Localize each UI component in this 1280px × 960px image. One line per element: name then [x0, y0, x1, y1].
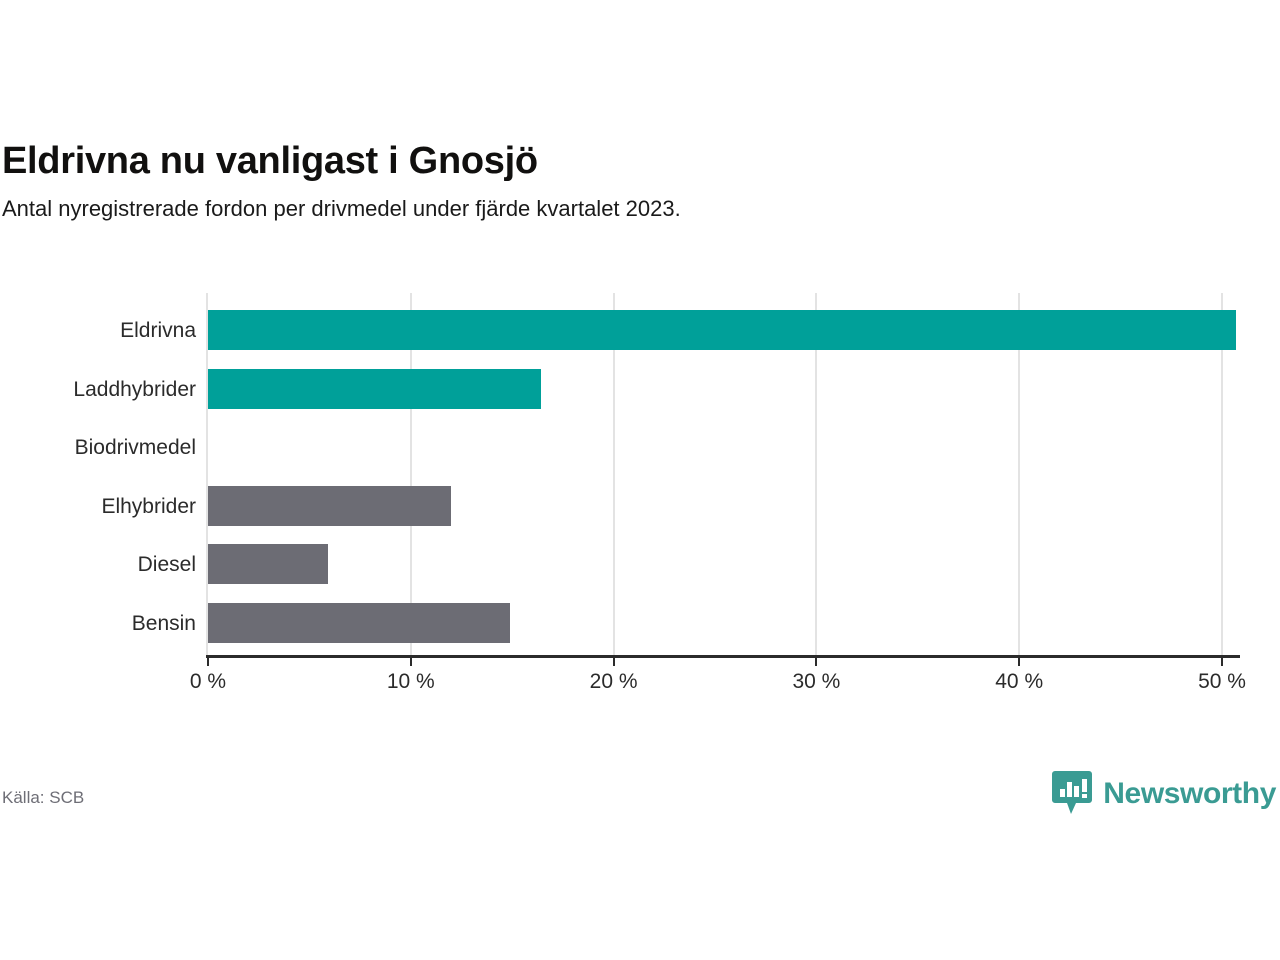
x-tick-label-30: 30 % [792, 670, 840, 694]
y-tick-label-laddhybrider: Laddhybrider [0, 379, 196, 400]
x-tick-mark-40 [1018, 655, 1020, 666]
bar-elhybrider[interactable] [208, 486, 451, 526]
x-tick-mark-0 [207, 655, 209, 666]
x-tick-label-50: 50 % [1198, 670, 1246, 694]
bar-laddhybrider[interactable] [208, 369, 541, 409]
bar-eldrivna[interactable] [208, 310, 1236, 350]
brand-wordmark: Newsworthy [1103, 779, 1276, 809]
x-axis-line [206, 655, 1240, 658]
brand-logo: Newsworthy [1051, 770, 1276, 818]
y-tick-label-bensin: Bensin [0, 613, 196, 634]
x-tick-label-20: 20 % [590, 670, 638, 694]
chart-plot-wrapper: EldrivnaLaddhybriderBiodrivmedelElhybrid… [0, 293, 1280, 655]
y-tick-label-biodrivmedel: Biodrivmedel [0, 437, 196, 458]
y-tick-label-diesel: Diesel [0, 554, 196, 575]
source-note: Källa: SCB [2, 788, 84, 808]
x-tick-mark-20 [613, 655, 615, 666]
x-tick-mark-30 [815, 655, 817, 666]
bar-chart-speech-bubble-icon [1051, 770, 1093, 818]
bar-diesel[interactable] [208, 544, 328, 584]
x-tick-label-40: 40 % [995, 670, 1043, 694]
plot-area [208, 293, 1222, 655]
bar-bensin[interactable] [208, 603, 510, 643]
x-tick-mark-10 [410, 655, 412, 666]
x-tick-label-10: 10 % [387, 670, 435, 694]
y-axis-labels: EldrivnaLaddhybriderBiodrivmedelElhybrid… [0, 293, 196, 655]
x-tick-mark-50 [1221, 655, 1223, 666]
chart-subtitle: Antal nyregistrerade fordon per drivmede… [0, 196, 1280, 222]
x-tick-label-0: 0 % [190, 670, 226, 694]
y-tick-label-eldrivna: Eldrivna [0, 320, 196, 341]
chart-header: Eldrivna nu vanligast i Gnosjö Antal nyr… [0, 140, 1280, 222]
page-title: Eldrivna nu vanligast i Gnosjö [0, 140, 1280, 184]
y-tick-label-elhybrider: Elhybrider [0, 496, 196, 517]
